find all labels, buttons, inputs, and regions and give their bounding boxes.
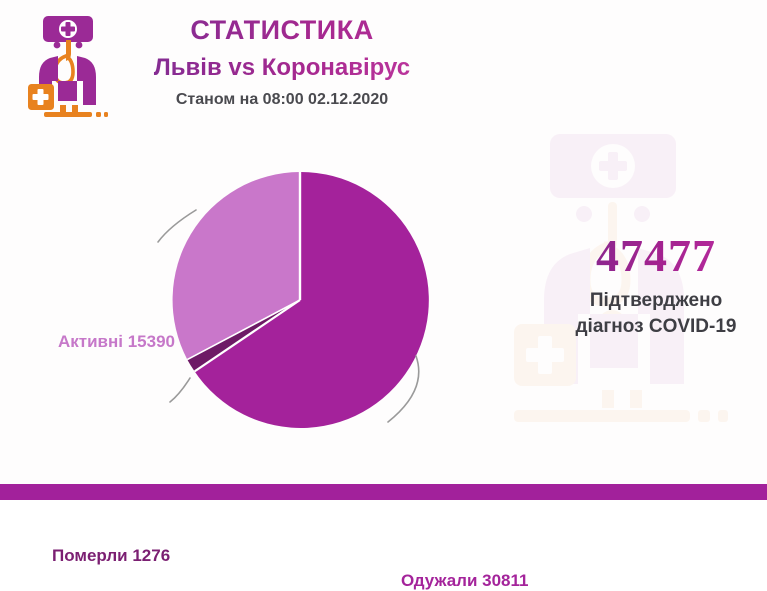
pie-label-active: Активні 15390 — [58, 332, 175, 352]
pie-label-recovered: Одужали 30811 — [401, 571, 528, 591]
header: СТАТИСТИКА Львів vs Коронавірус Станом н… — [0, 0, 460, 130]
infographic-root: СТАТИСТИКА Львів vs Коронавірус Станом н… — [0, 0, 767, 500]
header-text-block: СТАТИСТИКА Львів vs Коронавірус Станом н… — [122, 14, 442, 109]
confirmed-cases-caption: Підтверджено діагноз COVID-19 — [545, 288, 767, 339]
page-subtitle: Львів vs Коронавірус — [122, 52, 442, 83]
confirmed-cases-block: 47477 Підтверджено діагноз COVID-19 — [545, 232, 767, 340]
confirmed-caption-line-2: діагноз COVID-19 — [545, 314, 767, 340]
leader-line-deaths — [170, 378, 190, 402]
confirmed-cases-number: 47477 — [545, 232, 767, 280]
bottom-accent-bar — [0, 484, 767, 500]
confirmed-caption-line-1: Підтверджено — [545, 288, 767, 314]
doctor-icon — [22, 12, 114, 120]
pie-chart: Активні 15390 Померли 1276 Одужали 30811 — [20, 150, 580, 450]
page-title: СТАТИСТИКА — [122, 14, 442, 48]
pie-label-deaths: Померли 1276 — [52, 546, 170, 566]
as-of-date: Станом на 08:00 02.12.2020 — [122, 91, 442, 109]
